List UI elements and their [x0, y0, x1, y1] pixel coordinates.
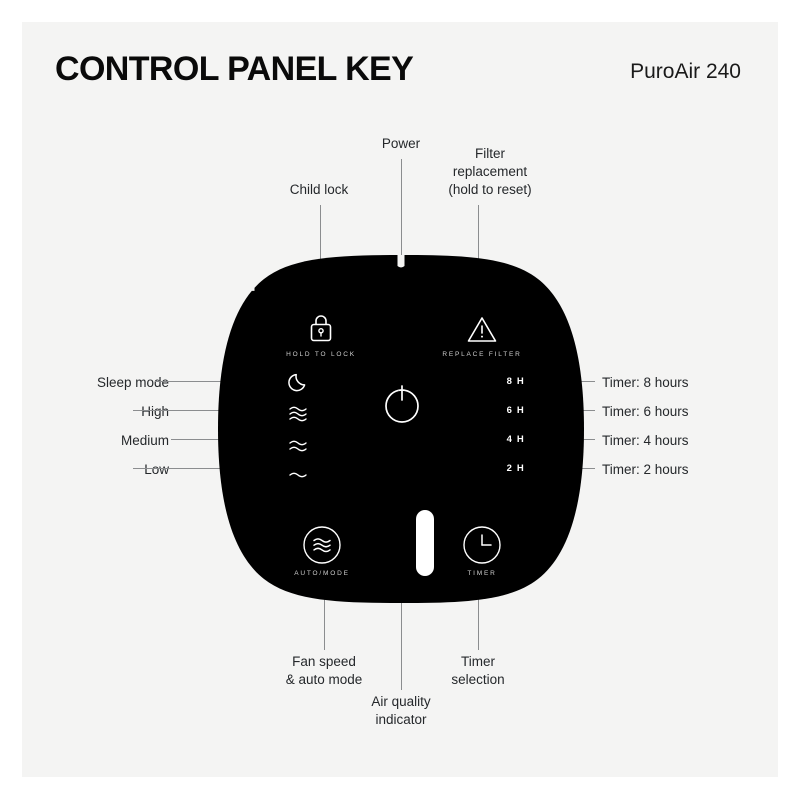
- panel-timer-step-2h[interactable]: 2 H: [467, 463, 525, 474]
- panel-timer-step-8h[interactable]: 8 H: [467, 376, 525, 387]
- fan-waves-circle-icon[interactable]: [303, 526, 341, 564]
- moon-icon[interactable]: [287, 371, 309, 393]
- callout-fan-speed-label: Fan speed & auto mode: [254, 653, 394, 689]
- callout-timer-8-label: Timer: 8 hours: [602, 374, 752, 392]
- lock-icon[interactable]: [307, 312, 335, 344]
- page-title: CONTROL PANEL KEY: [55, 50, 413, 89]
- leader-line-power: [401, 159, 402, 267]
- power-icon[interactable]: [379, 383, 425, 429]
- diagram-card: CONTROL PANEL KEY PuroAir 240 Child lock…: [22, 22, 778, 777]
- callout-filter-replacement-label: Filter replacement (hold to reset): [420, 145, 560, 200]
- product-model-label: PuroAir 240: [630, 60, 741, 84]
- callout-timer-selection-label: Timer selection: [418, 653, 538, 689]
- wave-three-icon[interactable]: [287, 403, 309, 423]
- callout-medium-label: Medium: [62, 432, 169, 450]
- air-quality-pill-indicator: [416, 510, 434, 576]
- wave-one-icon[interactable]: [287, 465, 309, 483]
- panel-timer-step-4h[interactable]: 4 H: [467, 434, 525, 445]
- callout-air-quality-label: Air quality indicator: [341, 693, 461, 729]
- wave-two-icon[interactable]: [287, 435, 309, 455]
- callout-timer-4-label: Timer: 4 hours: [602, 432, 752, 450]
- callout-sleep-mode-label: Sleep mode: [62, 374, 169, 392]
- panel-timer-step-6h[interactable]: 6 H: [467, 405, 525, 416]
- callout-low-label: Low: [62, 461, 169, 479]
- panel-caption-hold-to-lock: HOLD TO LOCK: [261, 351, 381, 358]
- panel-caption-timer: TIMER: [422, 570, 542, 577]
- leader-line-air-quality: [401, 592, 402, 690]
- control-panel: HOLD TO LOCK REPLACE FILTER: [218, 255, 584, 603]
- panel-body-shape: [218, 255, 584, 603]
- panel-caption-auto-mode: AUTO/MODE: [262, 570, 382, 577]
- callout-high-label: High: [62, 403, 169, 421]
- callout-child-lock-label: Child lock: [254, 181, 384, 199]
- panel-caption-replace-filter: REPLACE FILTER: [422, 351, 542, 358]
- clock-icon[interactable]: [463, 526, 501, 564]
- warning-triangle-icon[interactable]: [466, 315, 498, 344]
- callout-timer-2-label: Timer: 2 hours: [602, 461, 752, 479]
- callout-timer-6-label: Timer: 6 hours: [602, 403, 752, 421]
